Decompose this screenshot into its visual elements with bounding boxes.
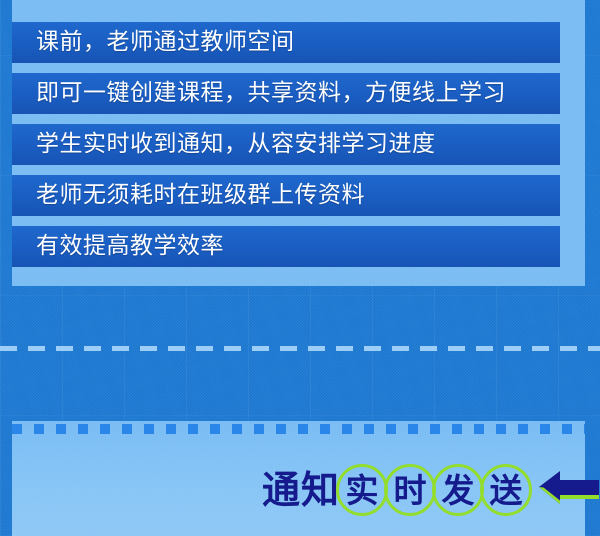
feature-bar: 即可一键创建课程，共享资料，方便线上学习 bbox=[12, 73, 560, 114]
feature-bar: 有效提高教学效率 bbox=[12, 226, 560, 267]
cta-circled-char: 送 bbox=[480, 464, 532, 516]
feature-bar: 课前，老师通过教师空间 bbox=[12, 22, 560, 63]
cta-plain-text: 通知 bbox=[262, 471, 340, 509]
feature-bar-label: 有效提高教学效率 bbox=[36, 235, 224, 258]
cta-circled-char: 时 bbox=[384, 464, 436, 516]
feature-bar-label: 即可一键创建课程，共享资料，方便线上学习 bbox=[36, 82, 506, 105]
feature-bar-label: 学生实时收到通知，从容安排学习进度 bbox=[36, 133, 436, 156]
cta-circled-char: 实 bbox=[336, 464, 388, 516]
dashed-divider bbox=[0, 346, 600, 351]
arrow-left-icon bbox=[538, 467, 600, 513]
perforation-strip bbox=[12, 424, 585, 434]
feature-bar: 学生实时收到通知，从容安排学习进度 bbox=[12, 124, 560, 165]
feature-bar-label: 课前，老师通过教师空间 bbox=[36, 31, 295, 54]
cta-row: 通知 实 时 发 送 bbox=[0, 455, 600, 525]
cta-circled-char: 发 bbox=[432, 464, 484, 516]
promo-slide: 课前，老师通过教师空间 即可一键创建课程，共享资料，方便线上学习 学生实时收到通… bbox=[0, 0, 600, 536]
feature-bar: 老师无须耗时在班级群上传资料 bbox=[12, 175, 560, 216]
feature-bar-label: 老师无须耗时在班级群上传资料 bbox=[36, 184, 365, 207]
